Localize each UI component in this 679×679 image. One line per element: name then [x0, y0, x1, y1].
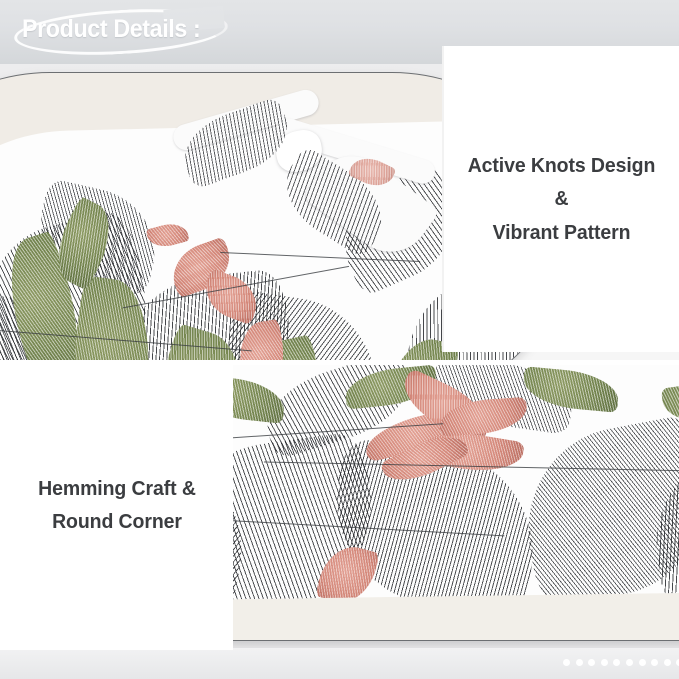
caption-line-1: Hemming Craft & [38, 472, 196, 505]
caption-line-1: Active Knots Design & [459, 149, 663, 215]
carousel-dot[interactable] [651, 659, 658, 666]
carousel-dot[interactable] [576, 659, 583, 666]
carousel-dots[interactable] [563, 659, 679, 666]
fitted-sheet-bottom [233, 365, 679, 641]
caption-card-hemming-craft-overlay: Hemming Craft & Round Corner [0, 360, 233, 650]
carousel-dot[interactable] [588, 659, 595, 666]
header-title-group: Product Details : [14, 8, 244, 56]
carousel-dot[interactable] [639, 659, 646, 666]
product-details-image: Product Details : Active Knots Design & … [0, 0, 679, 679]
page-title: Product Details : [22, 15, 200, 44]
caption-line-2: Vibrant Pattern [459, 216, 663, 249]
large-flower-motif [363, 385, 555, 508]
caption-line-2: Round Corner [38, 505, 196, 538]
product-photo-bottom [233, 365, 679, 648]
carousel-dot[interactable] [601, 659, 608, 666]
carousel-dot[interactable] [664, 659, 671, 666]
caption-text-hemming-craft-2: Hemming Craft & Round Corner [28, 472, 205, 538]
fabric-surface-bottom [233, 365, 679, 603]
carousel-dot[interactable] [563, 659, 570, 666]
caption-text-active-knots: Active Knots Design & Vibrant Pattern [450, 149, 673, 249]
carousel-dot[interactable] [613, 659, 620, 666]
carousel-dot[interactable] [626, 659, 633, 666]
caption-card-active-knots: Active Knots Design & Vibrant Pattern [444, 46, 679, 352]
leaf-motif [233, 374, 287, 423]
